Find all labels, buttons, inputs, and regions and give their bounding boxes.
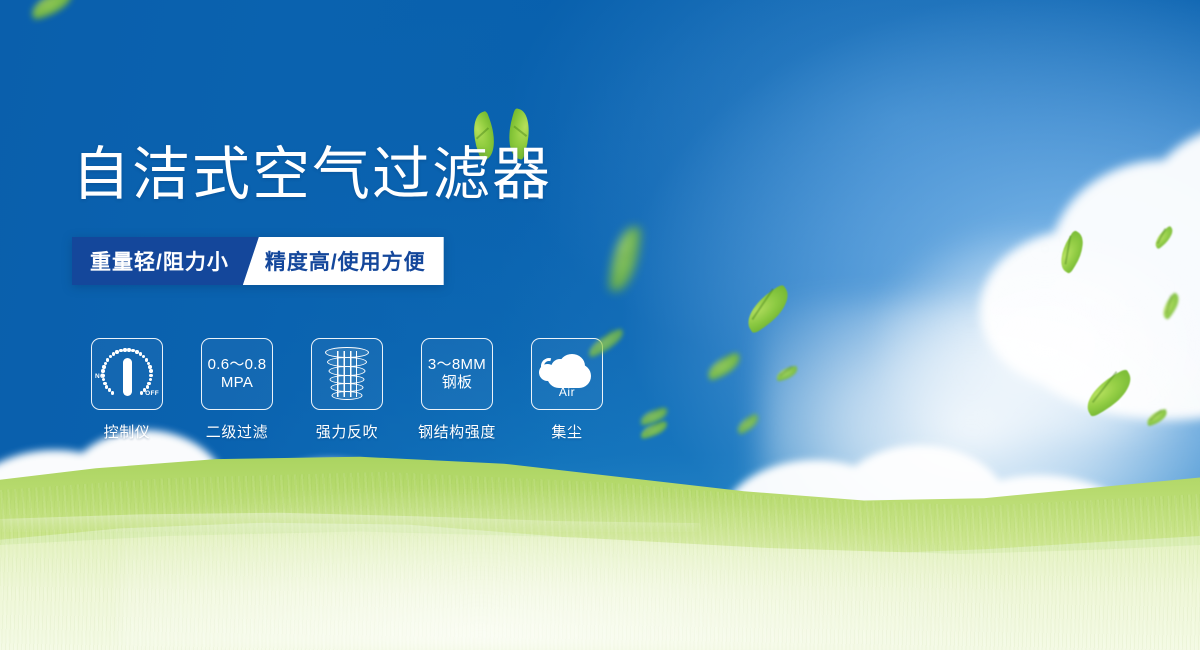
page-title: 自洁式空气过滤器 [72,146,552,204]
feature-caption: 强力反吹 [316,421,378,442]
gauge-tick-dot [106,358,109,361]
feature-caption: 钢结构强度 [418,421,496,442]
gauge-tick-dot [149,374,152,377]
gauge-tick-dot [115,350,118,353]
gauge-tick-dot [146,385,149,388]
feature-caption: 二级过滤 [206,421,268,442]
feature-caption: 集尘 [551,421,582,442]
subtitle-left-tag: 重量轻/阻力小 [72,237,259,285]
feature-item-secondary-filtration[interactable]: 0.6～0.8 MPA 二级过滤 [182,338,292,442]
feature-item-steel-strength[interactable]: 3～8MM 钢板 钢结构强度 [402,338,512,442]
subtitle-bar: 重量轻/阻力小 精度高/使用方便 [72,237,444,285]
feature-item-control-meter[interactable]: NO OFF 控制仪 [72,338,182,442]
gauge-tick-dot [139,352,142,355]
feature-icon-box [311,338,383,410]
feature-item-back-blow[interactable]: 强力反吹 [292,338,402,442]
feature-icon-box: NO OFF [91,338,163,410]
gauge-tick-dot [123,348,126,351]
cloud-air-icon: Air [539,352,595,396]
steel-value-line2: 钢板 [442,374,473,392]
grass-sunlight-glow [120,490,1020,650]
gauge-tick-dot [119,349,122,352]
feature-icon-box: 3～8MM 钢板 [421,338,493,410]
gauge-tick-dot [147,382,150,385]
grass-field [0,420,1200,650]
feature-item-dust-collection[interactable]: Air 集尘 [512,338,622,442]
gauge-needle-icon [123,358,132,396]
pressure-value-line2: MPA [221,374,253,392]
gauge-tick-dot [148,365,151,368]
gauge-tick-dot [112,352,115,355]
gauge-tick-dot [111,391,114,394]
subtitle-right-tag: 精度高/使用方便 [243,237,444,285]
gauge-tick-dot [109,355,112,358]
feature-caption: 控制仪 [104,421,151,442]
product-banner: 自洁式空气过滤器 重量轻/阻力小 精度高/使用方便 NO OFF 控制仪 0.6… [0,0,1200,650]
gauge-icon: NO OFF [96,343,158,405]
feature-icon-box: 0.6～0.8 MPA [201,338,273,410]
coil-filter-icon [324,347,370,401]
gauge-tick-dot [149,369,152,372]
air-label: Air [539,385,595,399]
steel-value-line1: 3～8MM [428,356,486,374]
pressure-value-line1: 0.6～0.8 [208,356,267,374]
gauge-tick-dot [127,348,130,351]
gauge-tick-dot [102,365,105,368]
gauge-label-no: NO [95,373,105,380]
gauge-tick-dot [135,350,138,353]
feature-list: NO OFF 控制仪 0.6～0.8 MPA 二级过滤 [72,338,622,442]
gauge-tick-dot [149,378,152,381]
gauge-tick-dot [145,358,148,361]
gauge-label-off: OFF [145,390,159,397]
